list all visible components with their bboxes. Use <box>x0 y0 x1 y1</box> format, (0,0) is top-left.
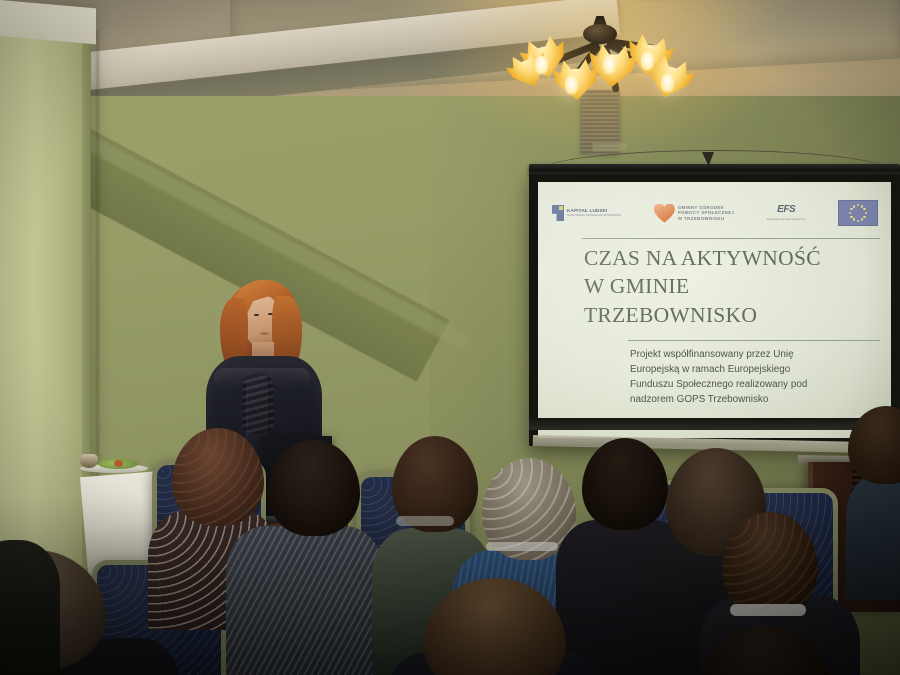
eu-star-icon <box>857 220 859 222</box>
kapital-ludzki-mark-icon <box>552 205 564 221</box>
eu-star-icon <box>849 212 851 214</box>
presenter-mouth <box>260 332 269 335</box>
gops-logo-text: GMINNY OŚRODEK POMOCY SPOŁECZNEJ W TRZEB… <box>678 205 735 221</box>
slide-title: CZAS NA AKTYWNOŚĆ W GMINIE TRZEBOWNISKO <box>584 244 884 329</box>
audience-person-head <box>172 428 264 526</box>
kapital-ludzki-dot-icon <box>559 206 563 210</box>
audience <box>0 400 900 675</box>
eu-star-icon <box>850 208 852 210</box>
slide-divider-top <box>582 238 880 239</box>
kapital-ludzki-subtitle: NARODOWA STRATEGIA SPÓJNOŚCI <box>567 214 621 217</box>
chandelier-bulb <box>535 56 548 74</box>
audience-person-collar <box>396 516 454 526</box>
gops-logo: GMINNY OŚRODEK POMOCY SPOŁECZNEJ W TRZEB… <box>654 204 735 223</box>
audience-person-torso <box>846 470 900 600</box>
efs-logo: EFS Europejski Fundusz Społeczny <box>767 205 805 220</box>
chandelier-bulb <box>565 76 578 94</box>
slide-body-text: Projekt współfinansowany przez Unię Euro… <box>630 347 880 407</box>
eu-star-icon <box>857 204 859 206</box>
eu-star-icon <box>853 218 855 220</box>
efs-title: EFS <box>777 205 795 215</box>
slide-logo-row: KAPITAŁ LUDZKI NARODOWA STRATEGIA SPÓJNO… <box>552 198 878 228</box>
eu-star-icon <box>861 218 863 220</box>
eu-star-icon <box>863 216 865 218</box>
audience-person-head <box>848 406 900 484</box>
audience-person-head <box>268 440 360 536</box>
kapital-ludzki-logo: KAPITAŁ LUDZKI NARODOWA STRATEGIA SPÓJNO… <box>552 205 621 221</box>
audience-person-torso <box>0 540 60 675</box>
chandelier-bulb <box>641 52 654 70</box>
eu-star-icon <box>853 205 855 207</box>
audience-person-head <box>582 438 668 530</box>
audience-person-collar <box>486 542 558 551</box>
efs-subtitle: Europejski Fundusz Społeczny <box>767 218 805 221</box>
eu-star-icon <box>863 208 865 210</box>
eu-star-icon <box>850 216 852 218</box>
presentation-room-photo: KAPITAŁ LUDZKI NARODOWA STRATEGIA SPÓJNO… <box>0 0 900 675</box>
european-union-flag-icon <box>838 200 878 226</box>
slide-divider-mid <box>628 340 880 341</box>
heart-icon <box>654 204 675 223</box>
eu-star-icon <box>865 212 867 214</box>
kapital-ludzki-text: KAPITAŁ LUDZKI NARODOWA STRATEGIA SPÓJNO… <box>567 209 621 218</box>
ceiling-chandelier <box>495 0 715 116</box>
audience-person-torso <box>226 526 384 675</box>
audience-person-collar <box>730 604 806 616</box>
gops-line-3: W TRZEBOWNISKU <box>678 216 735 221</box>
chandelier-bulb <box>603 56 616 74</box>
chandelier-bulb <box>661 74 674 92</box>
